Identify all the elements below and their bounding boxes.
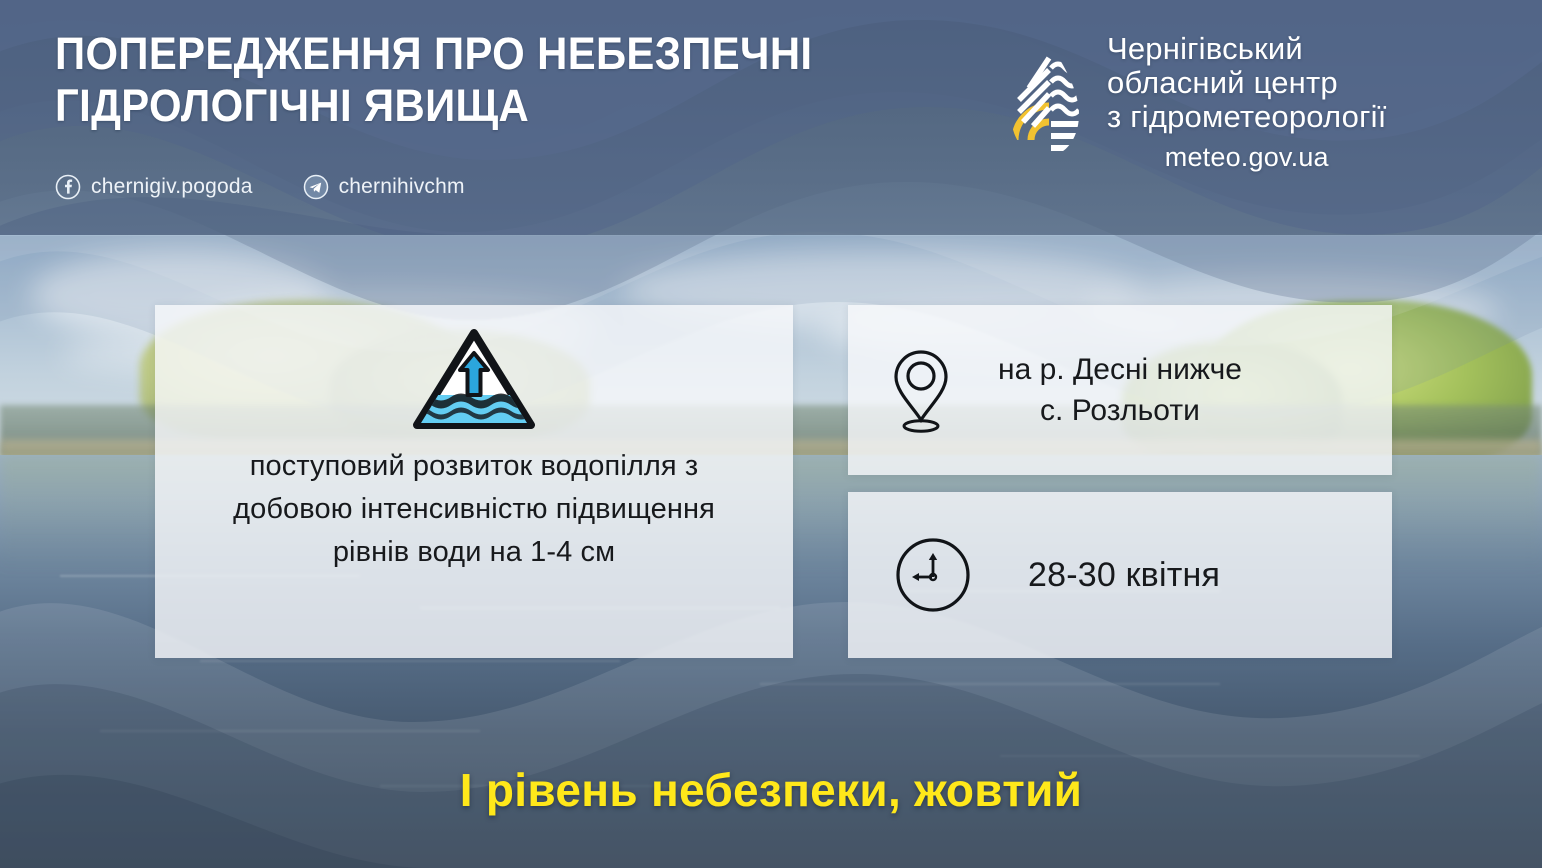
facebook-handle: chernigiv.pogoda [91, 175, 253, 199]
danger-level-text: І рівень небезпеки, жовтий [460, 763, 1083, 817]
hydrometeorology-droplet-logo [1005, 36, 1085, 161]
flood-warning-triangle-icon [411, 327, 537, 431]
title-line-1: ПОПЕРЕДЖЕННЯ ПРО НЕБЕЗПЕЧНІ [55, 28, 812, 79]
social-link-facebook[interactable]: chernigiv.pogoda [55, 174, 253, 200]
logo-website[interactable]: meteo.gov.ua [1107, 140, 1387, 174]
social-links: chernigiv.pogoda chernihivchm [55, 174, 465, 200]
page-title: ПОПЕРЕДЖЕННЯ ПРО НЕБЕЗПЕЧНІ ГІДРОЛОГІЧНІ… [55, 28, 892, 132]
phenomenon-card: поступовий розвиток водопілля з добовою … [155, 305, 793, 658]
period-card: 28-30 квітня [848, 492, 1392, 658]
location-card: на р. Десні нижче с. Розльоти [848, 305, 1392, 475]
title-line-2: ГІДРОЛОГІЧНІ ЯВИЩА [55, 80, 892, 132]
logo-text-block: Чернігівський обласний центр з гідромете… [1107, 32, 1387, 174]
social-link-telegram[interactable]: chernihivchm [303, 174, 465, 200]
map-pin-icon [890, 346, 952, 434]
telegram-handle: chernihivchm [339, 175, 465, 199]
period-text: 28-30 квітня [1028, 555, 1220, 595]
logo-line-3: з гідрометеорології [1107, 99, 1387, 134]
header-band: ПОПЕРЕДЖЕННЯ ПРО НЕБЕЗПЕЧНІ ГІДРОЛОГІЧНІ… [0, 0, 1542, 235]
organization-logo: Чернігівський обласний центр з гідромете… [1005, 32, 1387, 174]
facebook-icon [55, 174, 81, 200]
location-text: на р. Десні нижче с. Розльоти [998, 349, 1242, 431]
location-line-1: на р. Десні нижче [998, 353, 1242, 386]
logo-line-2: обласний центр [1107, 65, 1338, 100]
weather-warning-infographic: ПОПЕРЕДЖЕННЯ ПРО НЕБЕЗПЕЧНІ ГІДРОЛОГІЧНІ… [0, 0, 1542, 868]
clock-icon [894, 536, 972, 614]
danger-level-footer: І рівень небезпеки, жовтий [0, 752, 1542, 828]
telegram-icon [303, 174, 329, 200]
logo-line-1: Чернігівський [1107, 31, 1303, 66]
phenomenon-text: поступовий розвиток водопілля з добовою … [194, 445, 754, 574]
location-line-2: с. Розльоти [1040, 394, 1200, 427]
